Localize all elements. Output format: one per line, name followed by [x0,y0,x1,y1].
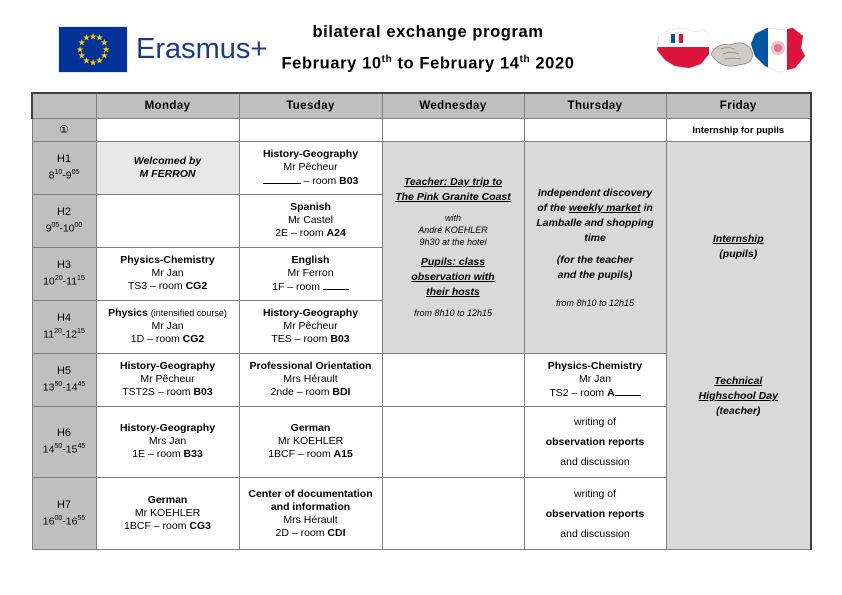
hour-id-h7: H7 [36,499,93,512]
thursday-h7-line2: observation reports [546,508,645,520]
tuesday-h5-subject: Professional Orientation [250,360,372,372]
note-tuesday [239,119,382,142]
header-friday: Friday [666,93,811,119]
tuesday-h2-subject: Spanish [290,201,331,213]
hour-label-h5: H5 1350-1445 [32,353,96,406]
thursday-h6-line3: and discussion [560,456,629,468]
note-monday [96,119,239,142]
wednesday-time: from 8h10 to 12h15 [386,307,521,319]
title-date-from-sup: th [382,54,393,65]
tuesday-h1-subject: History-Geography [263,148,358,160]
tuesday-h2-class: 2E – room [275,227,326,239]
hour-range-h2: 905-1000 [36,219,93,236]
wednesday-person: André KOEHLER [386,224,521,236]
monday-h4-subject: Physics [108,307,148,319]
table-row-note: ① Internship for pupils [32,119,811,142]
thursday-time: from 8h10 to 12h15 [528,297,663,309]
cell-wednesday-h5 [382,353,524,406]
timetable: Monday Tuesday Wednesday Thursday Friday… [31,92,812,550]
monday-h7-class: 1BCF – room [124,520,189,532]
tuesday-h1-class-rest: – room [301,175,340,187]
cell-tuesday-h4: History-Geography Mr Pêcheur TES – room … [239,300,382,353]
monday-h3-class: TS3 – room [128,280,186,292]
table-header-row: Monday Tuesday Wednesday Thursday Friday [32,93,811,119]
hour-id-h1: H1 [36,153,93,166]
tuesday-h1-teacher: Mr Pêcheur [283,161,337,173]
cell-wednesday-merged: Teacher: Day trip to The Pink Granite Co… [382,142,524,354]
thursday-line6: and the pupils) [528,268,663,283]
cell-thursday-merged: Independent discovery of the weekly mark… [524,142,666,354]
monday-h4-room: CG2 [183,333,205,345]
wednesday-with: with [386,212,521,224]
thursday-weekly-market: weekly market [569,202,641,214]
thursday-h5-room-blank [615,386,641,396]
cell-tuesday-h5: Professional Orientation Mrs Hérault 2nd… [239,353,382,406]
monday-h1-line1: Welcomed by [134,155,202,167]
tuesday-h6-teacher: Mr KOEHLER [278,435,343,447]
cell-tuesday-h3: English Mr Ferron 1F – room [239,247,382,300]
note-marker: ① [32,119,96,142]
cell-monday-h3: Physics-Chemistry Mr Jan TS3 – room CG2 [96,247,239,300]
document-page: ★★★★★★★★★★★★ Erasmus+ bilateral exchange… [0,0,842,595]
monday-h5-class: TST2S – room [122,386,193,398]
tuesday-h4-room: B03 [330,333,349,345]
monday-h7-subject: German [148,494,188,506]
tuesday-h4-subject: History-Geography [263,307,358,319]
friday-technical-line2: Highschool Day [670,389,808,404]
monday-h6-class: 1E – room [132,448,183,460]
tuesday-h6-room: A15 [334,448,353,460]
monday-h4-class: 1D – room [131,333,183,345]
monday-h5-teacher: Mr Pêcheur [140,373,194,385]
cell-monday-h5: History-Geography Mr Pêcheur TST2S – roo… [96,353,239,406]
hour-id-h5: H5 [36,365,93,378]
friday-technical-who: (teacher) [670,404,808,419]
header-monday: Monday [96,93,239,119]
cell-monday-h7: German Mr KOEHLER 1BCF – room CG3 [96,478,239,550]
tuesday-h1-room: B03 [339,175,358,187]
tuesday-h7-teacher: Mrs Hérault [283,514,337,526]
hour-label-h4: H4 1120-1215 [32,300,96,353]
thursday-line1: Independent discovery [528,186,663,201]
header-wednesday: Wednesday [382,93,524,119]
thursday-h5-teacher: Mr Jan [579,373,611,385]
tuesday-h7-subject-line1: Center of documentation [248,488,372,500]
title-line-2: February 10th to February 14th 2020 [233,46,623,78]
thursday-line4: time [528,231,663,246]
tuesday-h3-class: 1F – room [272,281,323,293]
cell-monday-h4: Physics (intensified course) Mr Jan 1D –… [96,300,239,353]
friday-internship-label: Internship [670,232,808,247]
hour-range-h4: 1120-1215 [36,325,93,342]
monday-h5-room: B03 [193,386,212,398]
note-thursday [524,119,666,142]
hour-id-h6: H6 [36,427,93,440]
cell-monday-h6: History-Geography Mrs Jan 1E – room B33 [96,406,239,478]
thursday-h6-line2: observation reports [546,436,645,448]
hour-id-h4: H4 [36,312,93,325]
tuesday-h3-subject: English [292,254,330,266]
thursday-line2: of the weekly market in [528,201,663,216]
tuesday-h7-room: CDI [327,527,345,539]
tuesday-h3-teacher: Mr Ferron [287,267,333,279]
cell-tuesday-h6: German Mr KOEHLER 1BCF – room A15 [239,406,382,478]
note-wednesday [382,119,524,142]
table-row-h1: H1 810-905 Welcomed by M FERRON History-… [32,142,811,195]
tuesday-h6-class: 1BCF – room [268,448,333,460]
tuesday-h7-class: 2D – room [275,527,327,539]
title-date-from: February 10 [281,55,381,73]
tuesday-h6-subject: German [291,422,331,434]
monday-h7-room: CG3 [189,520,211,532]
thursday-h5-subject: Physics-Chemistry [548,360,643,372]
tuesday-h5-teacher: Mrs Hérault [283,373,337,385]
cell-tuesday-h2: Spanish Mr Castel 2E – room A24 [239,194,382,247]
cell-monday-h1: Welcomed by M FERRON [96,142,239,195]
tuesday-h2-teacher: Mr Castel [288,214,333,226]
page-title: bilateral exchange program February 10th… [233,18,623,78]
monday-h6-teacher: Mrs Jan [149,435,186,447]
wednesday-pupils-line2: observation with [386,270,521,285]
hour-id-h3: H3 [36,259,93,272]
title-year: 2020 [530,55,574,73]
title-line-1: bilateral exchange program [233,18,623,46]
hour-range-h3: 1020-1115 [36,272,93,289]
cell-tuesday-h1: History-Geography Mr Pêcheur – room B03 [239,142,382,195]
cell-monday-h2 [96,194,239,247]
wednesday-pupils-line3: their hosts [386,285,521,300]
monday-h4-subject-note: (intensified course) [151,308,227,318]
wednesday-title-line1: Teacher: Day trip to [386,175,521,190]
cell-wednesday-h6 [382,406,524,478]
cell-thursday-h7: writing of observation reports and discu… [524,478,666,550]
wednesday-pupils-line1: Pupils: class [386,255,521,270]
friday-internship-who: (pupils) [670,247,808,262]
monday-h1-line2: M FERRON [140,168,196,180]
monday-h3-subject: Physics-Chemistry [120,254,215,266]
monday-h4-teacher: Mr Jan [151,320,183,332]
hour-label-h6: H6 1450-1545 [32,406,96,478]
hour-label-h3: H3 1020-1115 [32,247,96,300]
cell-thursday-h6: writing of observation reports and discu… [524,406,666,478]
header-tuesday: Tuesday [239,93,382,119]
tuesday-h7-subject-line2: and information [271,501,350,513]
cell-thursday-h5: Physics-Chemistry Mr Jan TS2 – room A [524,353,666,406]
hour-range-h5: 1350-1445 [36,378,93,395]
cell-tuesday-h7: Center of documentation and information … [239,478,382,550]
thursday-h7-line3: and discussion [560,528,629,540]
document-header: ★★★★★★★★★★★★ Erasmus+ bilateral exchange… [0,0,842,90]
poland-france-handshake-icon [651,16,811,88]
eu-flag-icon: ★★★★★★★★★★★★ [58,26,128,73]
tuesday-h3-room-blank [323,280,349,290]
thursday-line5: (for the teacher [528,253,663,268]
tuesday-h5-class: 2nde – room [271,386,333,398]
monday-h6-room: B33 [184,448,203,460]
thursday-line3: Lamballe and shopping [528,216,663,231]
title-date-to-sup: th [520,54,531,65]
tuesday-h5-room: BDI [332,386,350,398]
note-friday: Internship for pupils [666,119,811,142]
cell-friday-merged: Internship (pupils) Technical Highschool… [666,142,811,550]
monday-h6-subject: History-Geography [120,422,215,434]
thursday-h5-class: TS2 – room [549,387,607,399]
hour-label-h1: H1 810-905 [32,142,96,195]
hour-label-h7: H7 1600-1655 [32,478,96,550]
header-thursday: Thursday [524,93,666,119]
hour-id-h2: H2 [36,206,93,219]
tuesday-h4-class: TES – room [271,333,330,345]
thursday-h5-room: A [607,387,615,399]
title-date-mid: to February 14 [392,55,519,73]
cell-wednesday-h7 [382,478,524,550]
hour-range-h1: 810-905 [36,166,93,183]
hour-range-h7: 1600-1655 [36,512,93,529]
hour-label-h2: H2 905-1000 [32,194,96,247]
wednesday-title-line2: The Pink Granite Coast [386,190,521,205]
monday-h3-teacher: Mr Jan [151,267,183,279]
monday-h7-teacher: Mr KOEHLER [135,507,200,519]
monday-h3-room: CG2 [186,280,208,292]
monday-h5-subject: History-Geography [120,360,215,372]
tuesday-h4-teacher: Mr Pêcheur [283,320,337,332]
thursday-h6-line1: writing of [574,416,616,428]
header-corner [32,93,96,119]
tuesday-h1-class-blank [263,174,301,184]
wednesday-meeting: 9h30 at the hotel [386,236,521,248]
tuesday-h2-room: A24 [327,227,346,239]
friday-technical-line1: Technical [670,374,808,389]
hour-range-h6: 1450-1545 [36,440,93,457]
thursday-h7-line1: writing of [574,488,616,500]
